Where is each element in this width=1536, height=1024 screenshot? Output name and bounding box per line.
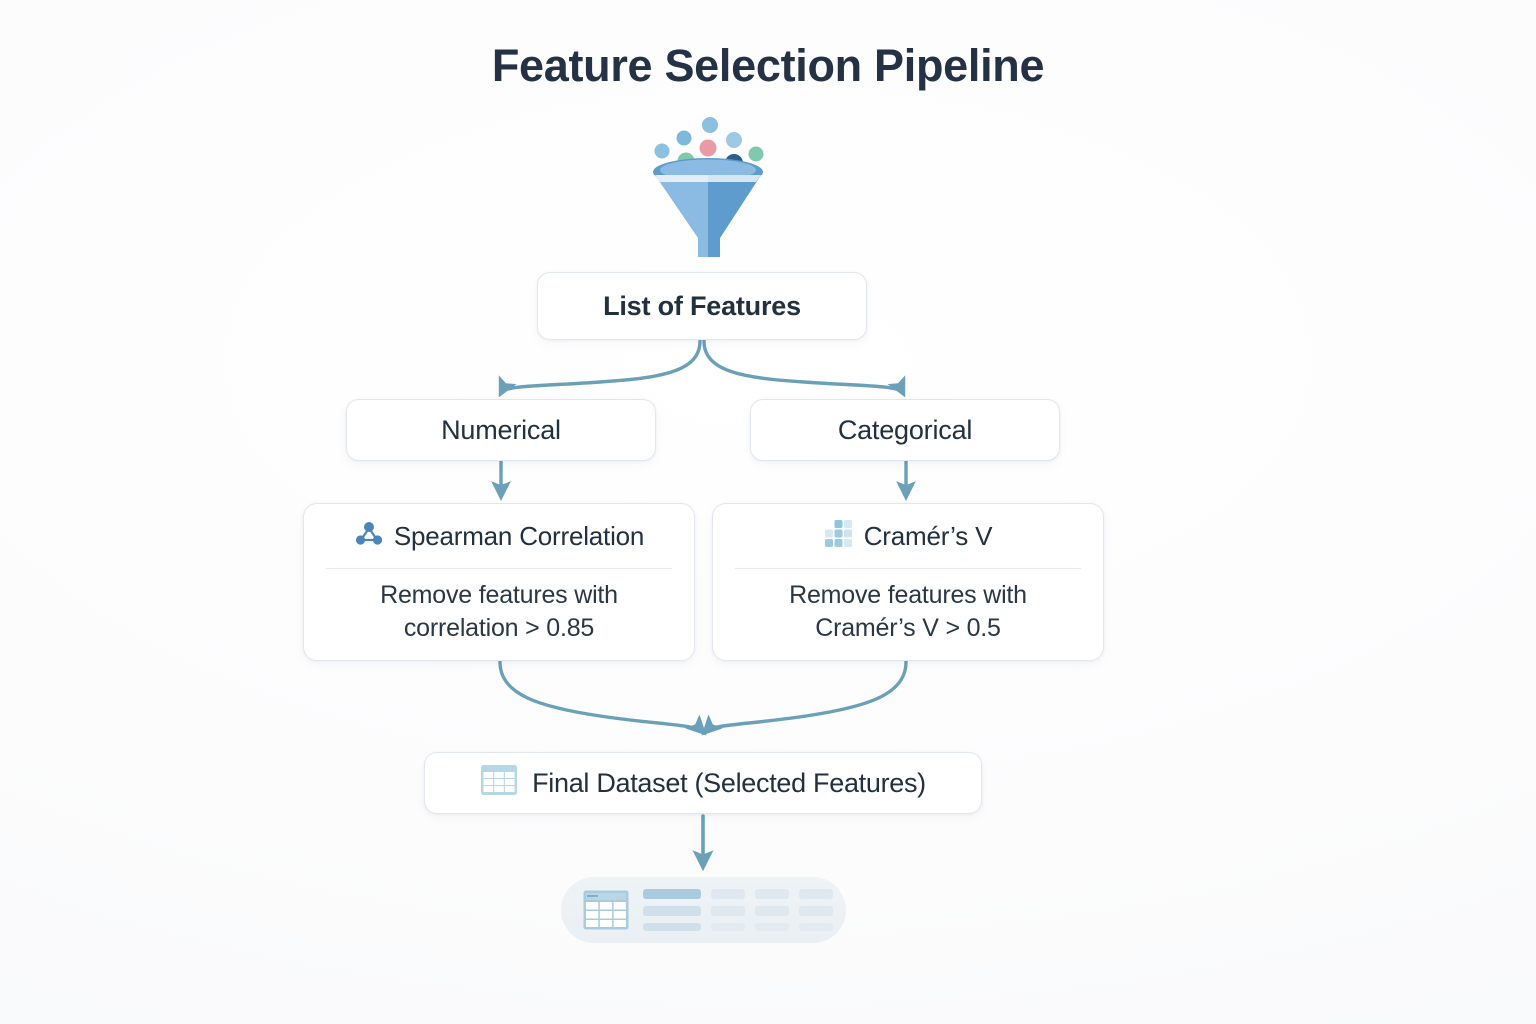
skeleton-bar: [799, 906, 833, 916]
skeleton-bar: [755, 923, 789, 931]
node-list-of-features-label: List of Features: [603, 291, 801, 322]
card-spearman-title: Spearman Correlation: [394, 521, 644, 552]
edge-cramers-to-final: [705, 662, 906, 732]
card-cramers-body: Remove features with Cramér’s V > 0.5: [713, 569, 1103, 660]
edge-spearman-to-final: [500, 662, 703, 732]
spreadsheet-icon: [583, 890, 629, 930]
page-title: Feature Selection Pipeline: [0, 40, 1536, 92]
skeleton-bar: [643, 906, 701, 916]
network-graph-icon: [354, 519, 384, 554]
card-cramers-body-line2: Cramér’s V > 0.5: [815, 614, 1001, 642]
skeleton-bar: [643, 889, 701, 899]
skeleton-bar: [711, 906, 745, 916]
card-cramers-body-line1: Remove features with: [789, 581, 1027, 609]
node-list-of-features[interactable]: List of Features: [537, 272, 867, 340]
diagram-canvas: Feature Selection Pipeline List of Featu…: [0, 0, 1536, 1024]
skeleton-bar: [643, 923, 701, 931]
card-spearman-body-line2: correlation > 0.85: [404, 614, 594, 642]
node-final-dataset-label: Final Dataset (Selected Features): [532, 768, 926, 799]
card-cramers-v[interactable]: Cramér’s V Remove features with Cramér’s…: [712, 503, 1104, 661]
footer-dataset-illustration: [561, 877, 846, 943]
card-spearman-body: Remove features with correlation > 0.85: [304, 569, 694, 660]
skeleton-bar: [799, 889, 833, 899]
skeleton-bars: [643, 889, 833, 931]
node-numerical[interactable]: Numerical: [346, 399, 656, 461]
card-spearman-correlation[interactable]: Spearman Correlation Remove features wit…: [303, 503, 695, 661]
table-icon: [480, 764, 518, 803]
edge-root-to-categorical: [704, 341, 903, 393]
skeleton-bar: [755, 906, 789, 916]
node-categorical[interactable]: Categorical: [750, 399, 1060, 461]
funnel-icon: [628, 112, 788, 264]
skeleton-bar: [799, 923, 833, 931]
node-numerical-label: Numerical: [441, 415, 561, 446]
node-categorical-label: Categorical: [838, 415, 972, 446]
skeleton-bar: [755, 889, 789, 899]
card-spearman-header: Spearman Correlation: [304, 504, 694, 568]
card-cramers-header: Cramér’s V: [713, 504, 1103, 568]
grid-matrix-icon: [824, 519, 854, 554]
skeleton-bar: [711, 923, 745, 931]
edge-root-to-numerical: [501, 341, 700, 393]
skeleton-bar: [711, 889, 745, 899]
card-cramers-title: Cramér’s V: [864, 521, 993, 552]
node-final-dataset[interactable]: Final Dataset (Selected Features): [424, 752, 982, 814]
card-spearman-body-line1: Remove features with: [380, 581, 618, 609]
